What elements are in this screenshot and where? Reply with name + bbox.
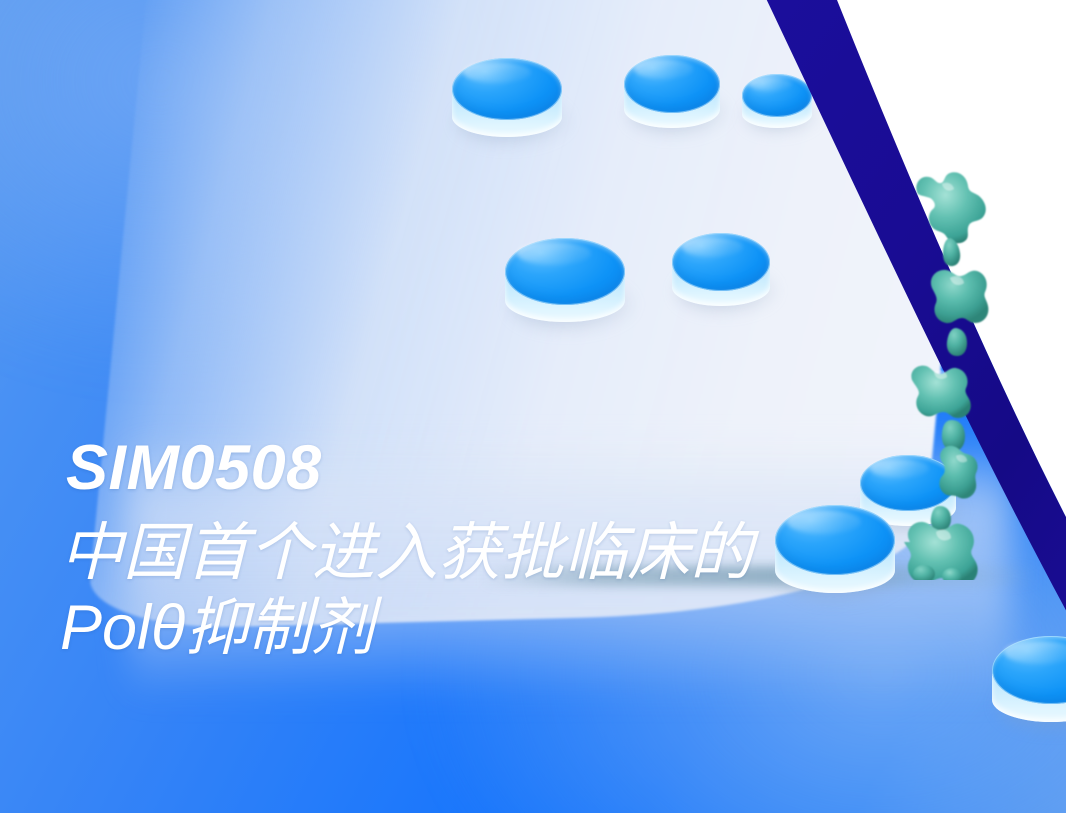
subtitle-line-1: 中国首个进入获批临床的 [60,518,860,589]
tablet-1 [452,58,562,140]
page-title: SIM0508 [66,437,860,500]
tablet-rim [624,55,720,113]
molecule-svg [880,150,1050,580]
subtitle-line-2: Polθ抑制剂 [60,593,860,664]
tablet-8 [992,636,1066,726]
tablet-rim [672,233,770,291]
molecule-lobes [904,172,988,580]
protein-ribbon-model [880,150,1050,580]
tablet-4 [672,233,770,309]
poster-canvas: SIM0508 中国首个进入获批临床的 Polθ抑制剂 [0,0,1066,813]
tablet-rim [742,74,812,117]
tablet-rim [452,58,562,120]
tablet-5 [742,74,812,130]
molecule-lobe-4 [939,446,977,499]
tablet-3 [505,238,625,326]
tablet-2 [624,55,720,131]
headline-text-block: SIM0508 中国首个进入获批临床的 Polθ抑制剂 [60,437,860,663]
molecule-lobe-1 [916,172,985,243]
molecule-connector-2 [947,328,967,356]
tablet-rim [505,238,625,305]
molecule-connector-4 [931,506,951,531]
